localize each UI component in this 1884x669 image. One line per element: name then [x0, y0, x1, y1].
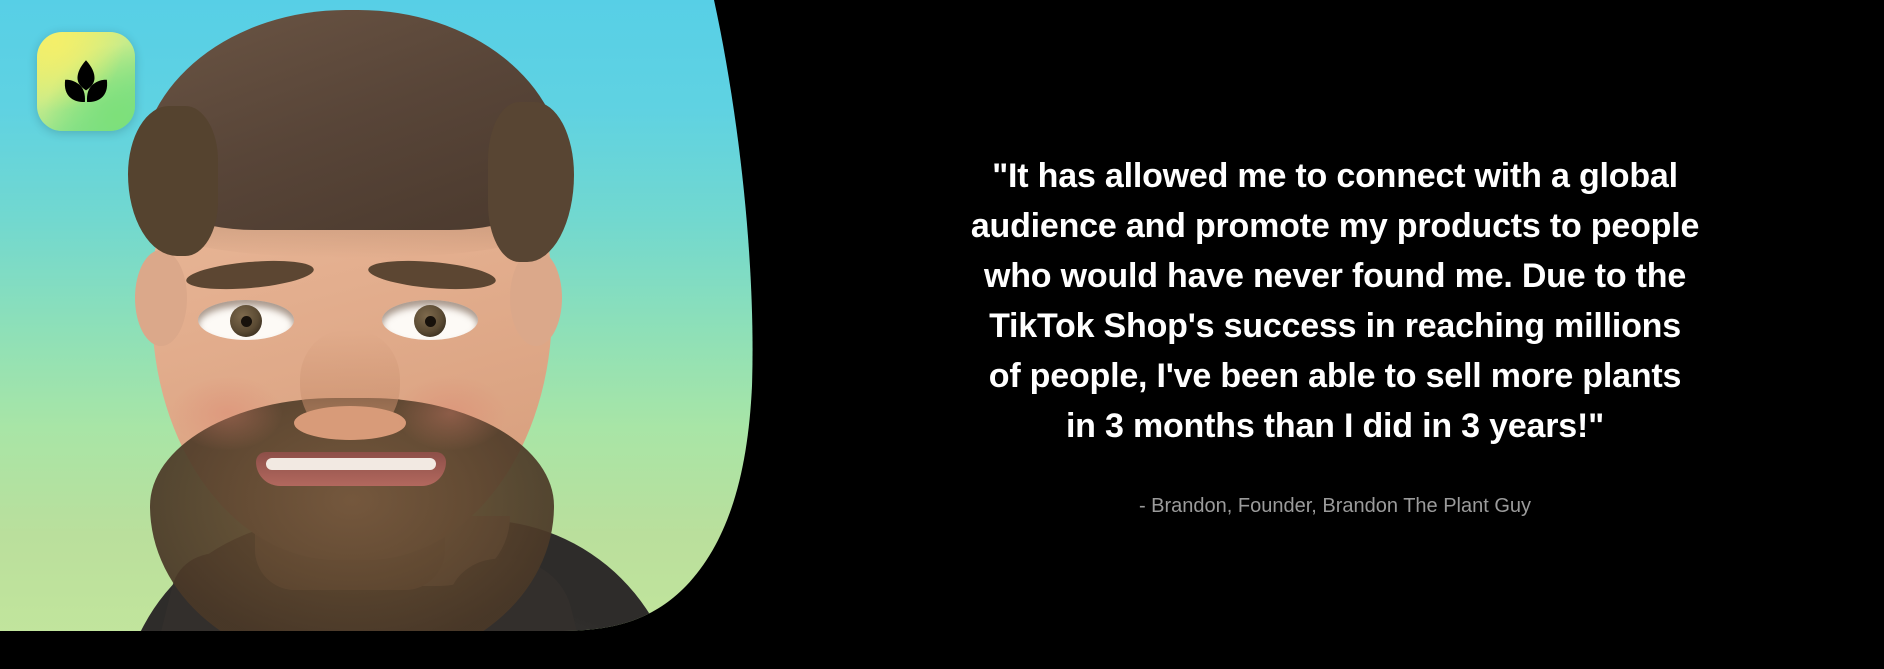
portrait-eye-right [382, 300, 478, 340]
portrait-iris-left [230, 305, 262, 337]
portrait-ear-left [135, 250, 187, 346]
brand-logo-badge [37, 32, 135, 131]
testimonial-quote-text: "It has allowed me to connect with a glo… [970, 151, 1700, 451]
quote-content: "It has allowed me to connect with a glo… [970, 151, 1700, 519]
portrait-cheek-right [396, 376, 506, 450]
plant-leaves-icon [57, 53, 115, 111]
testimonial-attribution: - Brandon, Founder, Brandon The Plant Gu… [970, 493, 1700, 519]
portrait-hair [140, 10, 564, 230]
portrait-mouth [256, 452, 446, 486]
portrait-nose [300, 330, 400, 440]
testimonial-quote-panel: "It has allowed me to connect with a glo… [860, 0, 1810, 669]
portrait-iris-right [414, 305, 446, 337]
portrait-cheek-left [172, 376, 282, 450]
portrait-ear-right [510, 250, 562, 346]
testimonial-card: "It has allowed me to connect with a glo… [0, 0, 1884, 669]
portrait-eye-left [198, 300, 294, 340]
